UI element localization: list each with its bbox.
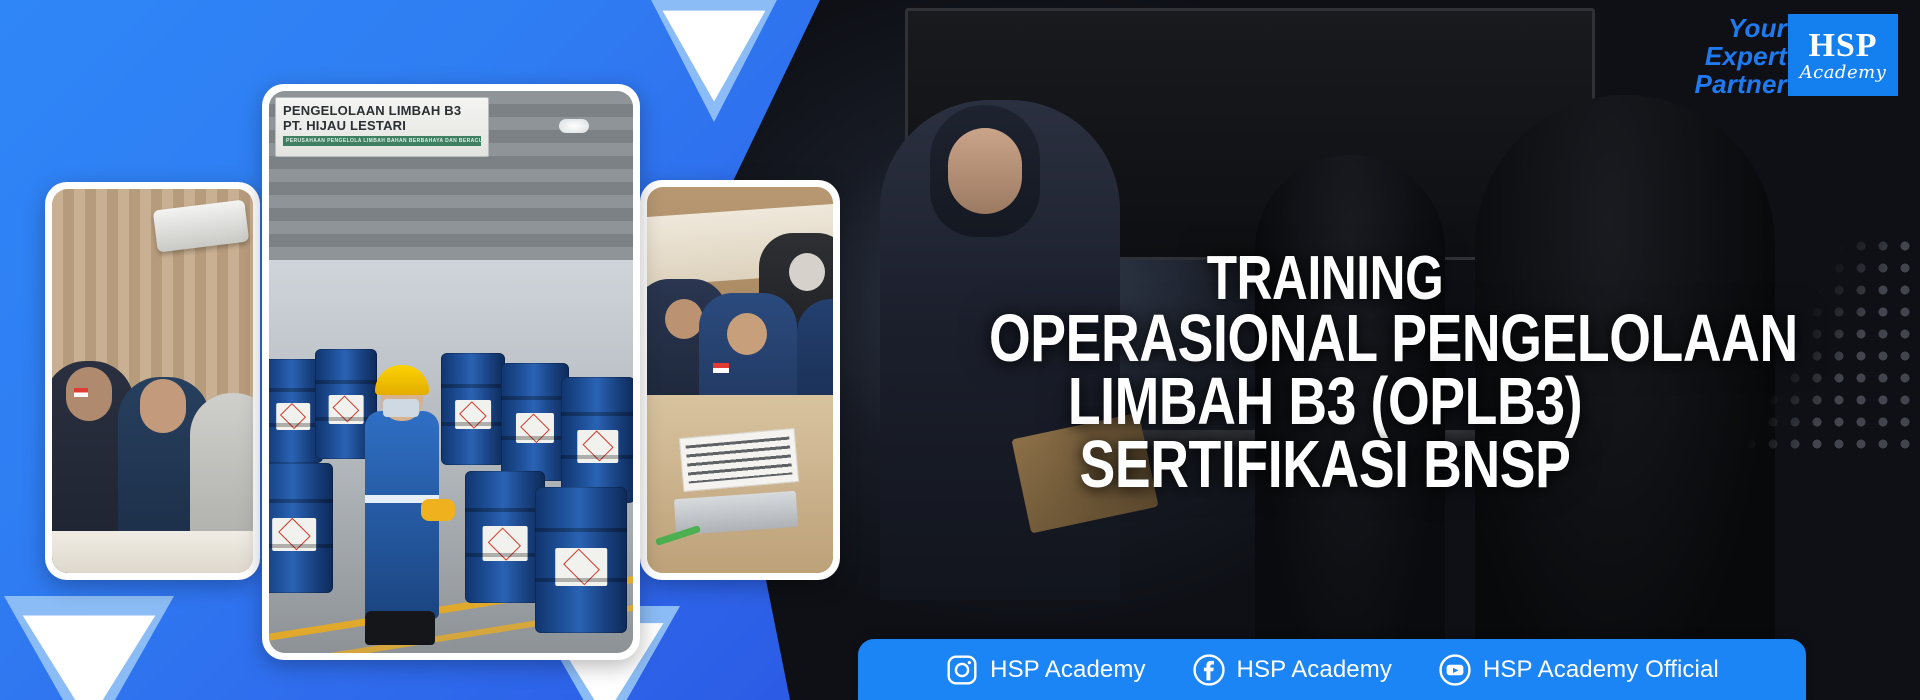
sign-line-2: PT. HIJAU LESTARI xyxy=(283,118,481,133)
facebook-icon xyxy=(1192,653,1226,687)
headline-line-2: OPERASIONAL PENGELOLAAN xyxy=(989,308,1661,371)
tagline-line-3: Partner xyxy=(1695,70,1787,98)
safety-helmet-icon xyxy=(375,365,429,395)
page-title: TRAINING OPERASIONAL PENGELOLAAN LIMBAH … xyxy=(905,250,1745,497)
sign-line-1: PENGELOLAAN LIMBAH B3 xyxy=(283,103,481,118)
instagram-icon xyxy=(945,653,979,687)
presenter-face xyxy=(948,128,1022,214)
facebook-handle: HSP Academy xyxy=(1237,656,1392,684)
headline-line-4: SERTIFIKASI BNSP xyxy=(989,434,1661,497)
safety-boots xyxy=(365,611,435,645)
photo-card-group-discussion xyxy=(640,180,840,580)
triangle-down-icon-bottom-left xyxy=(4,596,174,700)
warehouse-sign: PENGELOLAAN LIMBAH B3 PT. HIJAU LESTARI … xyxy=(275,97,489,157)
youtube-handle: HSP Academy Official xyxy=(1483,656,1719,684)
tagline-line-2: Expert xyxy=(1695,42,1787,70)
youtube-icon xyxy=(1438,653,1472,687)
brand-tagline: Your Expert Partner xyxy=(1695,14,1787,98)
social-item-instagram[interactable]: HSP Academy xyxy=(945,653,1145,687)
training-banner: PENGELOLAAN LIMBAH B3 PT. HIJAU LESTARI … xyxy=(0,0,1920,700)
face-mask xyxy=(383,399,419,417)
hsp-academy-logo[interactable]: HSP Academy xyxy=(1788,14,1898,96)
handout-document xyxy=(679,428,799,492)
photo-card-warehouse: PENGELOLAAN LIMBAH B3 PT. HIJAU LESTARI … xyxy=(262,84,640,660)
tagline-line-1: Your xyxy=(1695,14,1787,42)
social-media-bar: HSP Academy HSP Academy HSP Academy Offi… xyxy=(858,639,1806,700)
sign-line-3: PERUSAHAAN PENGELOLA LIMBAH BAHAN BERBAH… xyxy=(283,136,481,146)
logo-secondary-text: Academy xyxy=(1800,64,1887,82)
logo-primary-text: HSP xyxy=(1808,29,1877,63)
headline-line-3: LIMBAH B3 (OPLB3) xyxy=(989,371,1661,434)
social-item-youtube[interactable]: HSP Academy Official xyxy=(1438,653,1719,687)
headline-line-1: TRAINING xyxy=(989,250,1661,308)
instagram-handle: HSP Academy xyxy=(990,656,1145,684)
social-item-facebook[interactable]: HSP Academy xyxy=(1192,653,1392,687)
triangle-down-icon-top xyxy=(648,0,780,122)
photo-card-classroom xyxy=(45,182,260,580)
safety-glove xyxy=(421,499,455,521)
